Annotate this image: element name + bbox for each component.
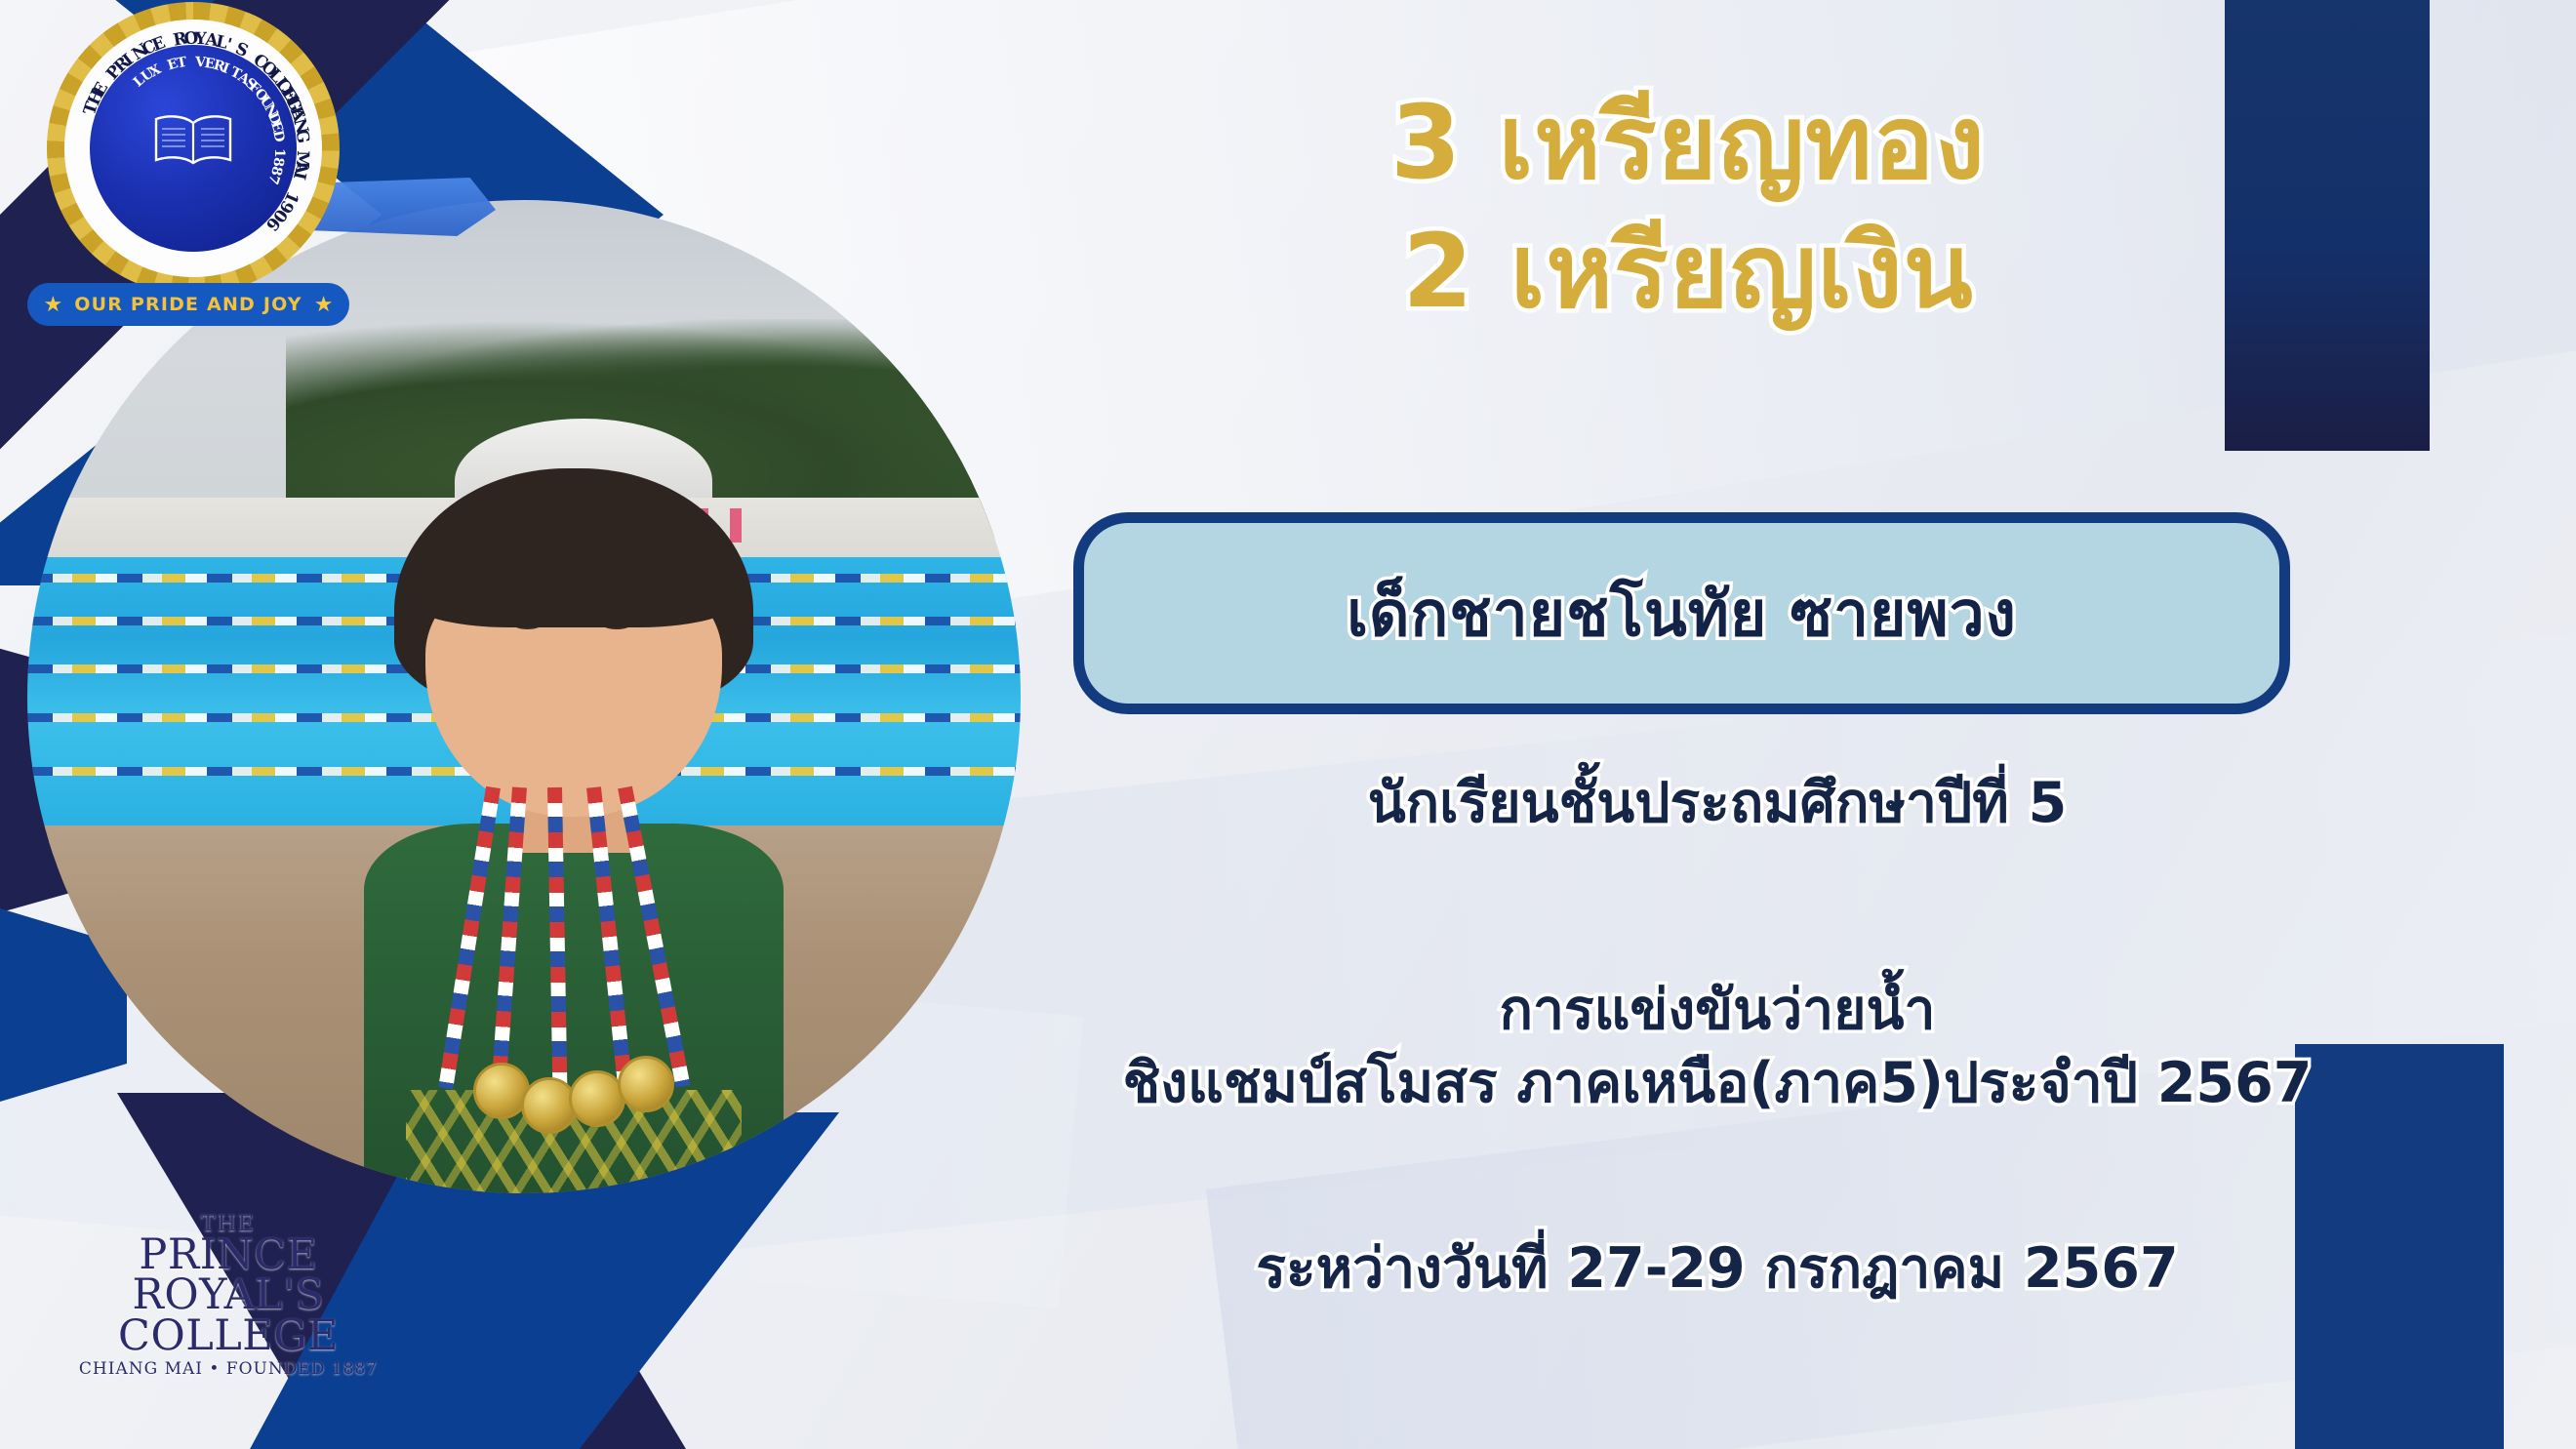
wordmark-line1: PRINCE ROYAL'S	[43, 1235, 414, 1315]
headline-gold-medals: 3 เหรียญทอง	[1093, 86, 2283, 199]
medal	[618, 1056, 674, 1112]
award-poster: THE PRINCE ROYAL'S COLLEGECHIANG MAI 190…	[0, 0, 2576, 1449]
photo-student-figure	[355, 468, 792, 1193]
student-name-badge: เด็กชายชโนทัย ซายพวง	[1073, 512, 2290, 714]
star-icon: ★	[44, 293, 63, 317]
student-photo	[27, 200, 1021, 1193]
event-date-label: ระหว่างวันที่ 27-29 กรกฎาคม 2567	[1025, 1225, 2410, 1312]
school-wordmark: THE PRINCE ROYAL'S COLLEGE CHIANG MAI • …	[43, 1214, 414, 1379]
star-icon: ★	[314, 293, 334, 317]
school-seal-logo: THE PRINCE ROYAL'S COLLEGECHIANG MAI 190…	[47, 2, 340, 295]
wordmark-line2: COLLEGE	[43, 1315, 414, 1357]
photo-student-fringe	[403, 541, 744, 627]
open-book-icon	[148, 109, 238, 170]
wordmark-sub: CHIANG MAI • FOUNDED 1887	[43, 1359, 414, 1379]
photo-student-shirt	[364, 824, 784, 1193]
pride-banner-label: OUR PRIDE AND JOY	[74, 294, 302, 315]
student-grade-label: นักเรียนชั้นประถมศึกษาปีที่ 5	[1025, 759, 2410, 847]
pride-and-joy-banner: ★ OUR PRIDE AND JOY ★	[27, 283, 349, 326]
headline-silver-medals: 2 เหรียญเงิน	[1093, 215, 2283, 328]
event-title-line2: ชิงแชมป์สโมสร ภาคเหนือ(ภาค5)ประจำปี 2567	[1025, 1039, 2410, 1127]
student-name-label: เด็กชายชโนทัย ซายพวง	[1347, 564, 2017, 664]
